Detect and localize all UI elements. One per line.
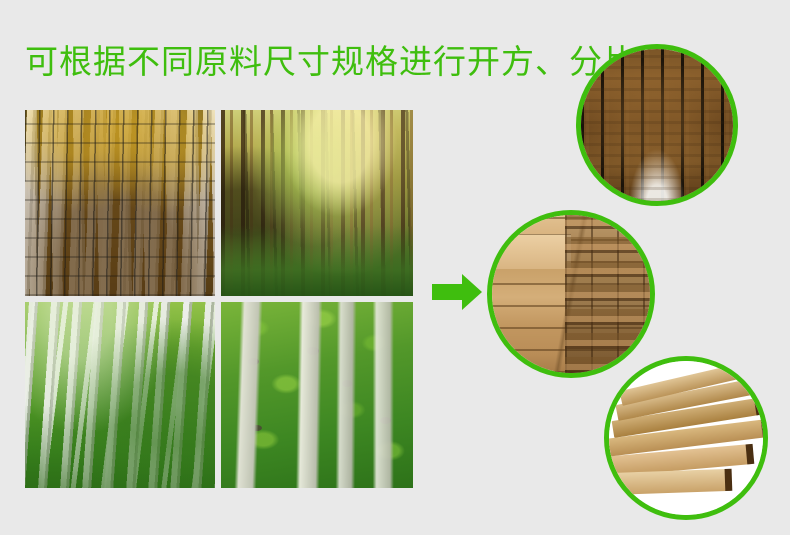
pine-sunlit-image — [221, 110, 413, 296]
process-arrow-icon — [432, 272, 482, 312]
trunk-knot-icon — [342, 380, 352, 387]
product-circle-boards-fan — [604, 356, 768, 520]
birch-autumn-image — [25, 110, 215, 296]
board-end-grain — [725, 469, 733, 491]
product-circle-sliced-log — [576, 44, 738, 206]
forest-photo-poplar-rows — [25, 302, 215, 488]
page-title: 可根据不同原料尺寸规格进行开方、分片 — [25, 42, 637, 82]
board-end-grain — [761, 419, 768, 438]
boards-fan-image — [609, 361, 763, 515]
trunk-knot-icon — [380, 417, 391, 424]
board-end-grain — [746, 444, 755, 465]
sliced-log-image — [581, 49, 733, 201]
forest-photo-birch-autumn — [25, 110, 215, 296]
board-end-grain — [747, 378, 757, 395]
timber-stack-image — [492, 215, 650, 373]
board-end-grain — [754, 397, 764, 415]
trunk-knot-icon — [307, 347, 319, 355]
timber-top-face — [492, 234, 571, 269]
forest-photo-birch-closeup — [221, 302, 413, 488]
board-plank — [611, 469, 732, 495]
forest-photo-grid — [25, 110, 413, 488]
board-end-grain — [736, 363, 746, 379]
forest-photo-pine-sunlit — [221, 110, 413, 296]
poplar-rows-image — [25, 302, 215, 488]
product-circle-timber-stack — [487, 210, 655, 378]
trunk-knot-icon — [248, 358, 259, 365]
trunk-knot-icon — [252, 425, 262, 431]
birch-closeup-image — [221, 302, 413, 488]
promo-banner: 可根据不同原料尺寸规格进行开方、分片 — [0, 0, 790, 535]
